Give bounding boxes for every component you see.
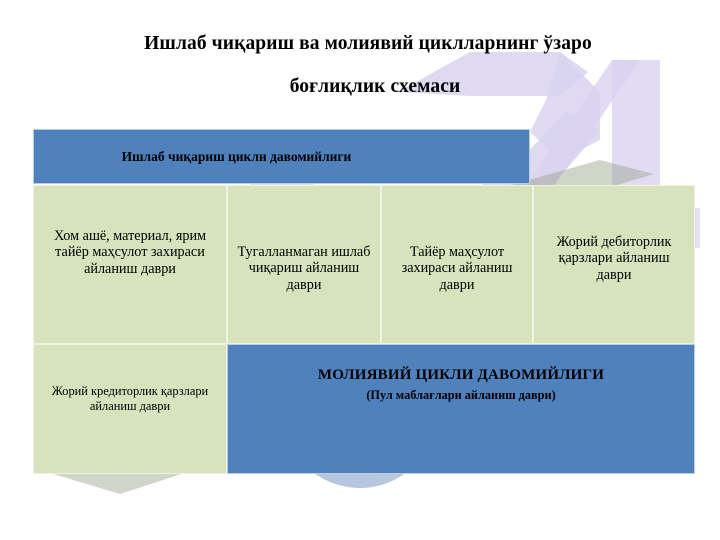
cycle-cell-raw-materials-label: Хом ашё, материал, ярим тайёр маҳсулот з…	[40, 228, 220, 278]
production-cycle-header-label: Ишлаб чиқариш цикли давомийлиги	[122, 149, 442, 165]
title-line-1: Ишлаб чиқариш ва молиявий циклларнинг ўз…	[60, 34, 660, 54]
financial-cycle-title: МОЛИЯВИЙ ЦИКЛИ ДАВОМИЙЛИГИ	[318, 367, 604, 384]
cycle-cell-payables: Жорий кредиторлик қарзлари айланиш даври	[33, 344, 227, 474]
cycle-cell-raw-materials: Хом ашё, материал, ярим тайёр маҳсулот з…	[33, 185, 227, 344]
cycle-cell-receivables: Жорий дебиторлик қарзлари айланиш даври	[533, 185, 695, 344]
cycle-cell-payables-label: Жорий кредиторлик қарзлари айланиш даври	[42, 384, 218, 414]
cycle-cell-finished-goods: Тайёр маҳсулот захираси айланиш даври	[381, 185, 533, 344]
cycle-diagram-table: Ишлаб чиқариш цикли давомийлиги Хом ашё,…	[33, 129, 695, 474]
cycle-cell-receivables-label: Жорий дебиторлик қарзлари айланиш даври	[540, 234, 688, 284]
production-cycle-header-cell: Ишлаб чиқариш цикли давомийлиги	[33, 129, 530, 184]
financial-cycle-subtitle: (Пул маблағлари айланиш даври)	[366, 388, 555, 403]
slide-title: Ишлаб чиқариш ва молиявий циклларнинг ўз…	[60, 34, 660, 98]
financial-cycle-cell: МОЛИЯВИЙ ЦИКЛИ ДАВОМИЙЛИГИ (Пул маблағла…	[227, 344, 695, 474]
cycle-cell-work-in-progress: Тугалланмаган ишлаб чиқариш айланиш давр…	[227, 185, 381, 344]
cycle-cell-finished-goods-label: Тайёр маҳсулот захираси айланиш даври	[388, 244, 526, 294]
slide-canvas: Ишлаб чиқариш ва молиявий циклларнинг ўз…	[0, 0, 720, 540]
cycle-cell-work-in-progress-label: Тугалланмаган ишлаб чиқариш айланиш давр…	[234, 244, 374, 294]
title-line-2: боғлиқлик схемаси	[60, 77, 660, 97]
